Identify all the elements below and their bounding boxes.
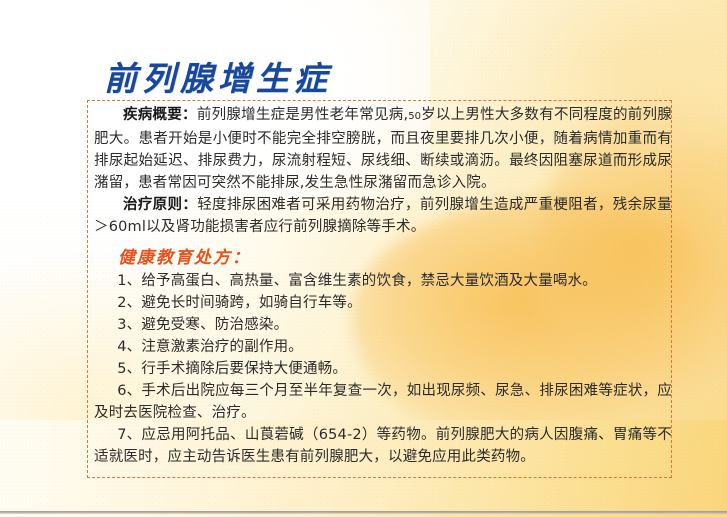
overview-age-number: 50	[408, 111, 421, 122]
list-item: 7、应忌用阿托品、山莨菪碱（654-2）等药物。前列腺肥大的病人因腹痛、胃痛等不…	[94, 424, 672, 468]
list-item: 2、避免长时间骑跨，如骑自行车等。	[94, 292, 672, 314]
list-item: 5、行手术摘除后要保持大便通畅。	[94, 358, 672, 380]
page-title: 前列腺增生症	[104, 52, 332, 100]
poster-page: 前列腺增生症 疾病概要：前列腺增生症是男性老年常见病,50岁以上男性大多数有不同…	[0, 0, 727, 517]
list-item: 1、给予高蛋白、高热量、富含维生素的饮食，禁忌大量饮酒及大量喝水。	[94, 270, 672, 292]
overview-text-part1: 前列腺增生症是男性老年常见病,	[197, 107, 408, 123]
list-item: 3、避免受寒、防治感染。	[94, 314, 672, 336]
overview-label: 疾病概要：	[123, 107, 197, 123]
prescription-list: 1、给予高蛋白、高热量、富含维生素的饮食，禁忌大量饮酒及大量喝水。 2、避免长时…	[94, 270, 672, 468]
bottom-divider	[0, 511, 727, 514]
section-treatment: 治疗原则：轻度排尿困难者可采用药物治疗，前列腺增生造成严重梗阻者，残余尿量＞60…	[94, 194, 672, 238]
treatment-label: 治疗原则：	[123, 197, 197, 213]
list-item: 4、注意激素治疗的副作用。	[94, 336, 672, 358]
content-area: 疾病概要：前列腺增生症是男性老年常见病,50岁以上男性大多数有不同程度的前列腺肥…	[94, 104, 672, 468]
list-item: 6、手术后出院应每三个月至半年复查一次，如出现尿频、尿急、排尿困难等症状，应及时…	[94, 380, 672, 424]
prescription-heading: 健康教育处方：	[118, 243, 672, 268]
section-overview: 疾病概要：前列腺增生症是男性老年常见病,50岁以上男性大多数有不同程度的前列腺肥…	[94, 104, 672, 194]
